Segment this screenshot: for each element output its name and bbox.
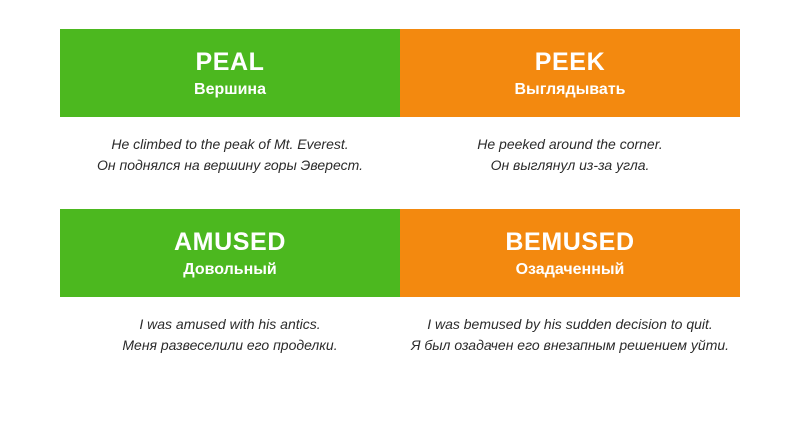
example-block-peek: He peeked around the corner. Он выглянул… bbox=[400, 134, 740, 176]
word-translation: Вершина bbox=[194, 82, 266, 99]
word-pair-group-1: PEAL Вершина PEEK Выглядывать He climbed… bbox=[60, 29, 740, 176]
example-sentence-russian: Я был озадачен его внезапным решением уй… bbox=[410, 335, 730, 356]
word-title: AMUSED bbox=[174, 229, 286, 255]
example-row-1: He climbed to the peak of Mt. Everest. О… bbox=[60, 117, 740, 176]
example-sentence-russian: Он поднялся на вершину горы Эверест. bbox=[70, 155, 390, 176]
word-title: PEAL bbox=[195, 49, 264, 75]
word-banner-amused: AMUSED Довольный bbox=[60, 209, 400, 297]
word-banner-bemused: BEMUSED Озадаченный bbox=[400, 209, 740, 297]
word-pairs-infographic: PEAL Вершина PEEK Выглядывать He climbed… bbox=[0, 0, 800, 438]
example-sentence-russian: Он выглянул из-за угла. bbox=[410, 155, 730, 176]
example-sentence-english: He climbed to the peak of Mt. Everest. bbox=[70, 134, 390, 155]
example-block-bemused: I was bemused by his sudden decision to … bbox=[400, 314, 740, 356]
word-banner-peal: PEAL Вершина bbox=[60, 29, 400, 117]
banner-row-1: PEAL Вершина PEEK Выглядывать bbox=[60, 29, 740, 117]
example-sentence-russian: Меня развеселили его проделки. bbox=[70, 335, 390, 356]
example-block-peal: He climbed to the peak of Mt. Everest. О… bbox=[60, 134, 400, 176]
word-pair-group-2: AMUSED Довольный BEMUSED Озадаченный I w… bbox=[60, 209, 740, 356]
word-translation: Довольный bbox=[183, 262, 277, 279]
example-sentence-english: I was amused with his antics. bbox=[70, 314, 390, 335]
word-translation: Выглядывать bbox=[515, 82, 626, 99]
word-translation: Озадаченный bbox=[516, 262, 625, 279]
example-row-2: I was amused with his antics. Меня разве… bbox=[60, 297, 740, 356]
word-banner-peek: PEEK Выглядывать bbox=[400, 29, 740, 117]
example-block-amused: I was amused with his antics. Меня разве… bbox=[60, 314, 400, 356]
word-title: BEMUSED bbox=[505, 229, 634, 255]
banner-row-2: AMUSED Довольный BEMUSED Озадаченный bbox=[60, 209, 740, 297]
example-sentence-english: I was bemused by his sudden decision to … bbox=[410, 314, 730, 335]
example-sentence-english: He peeked around the corner. bbox=[410, 134, 730, 155]
word-title: PEEK bbox=[535, 49, 605, 75]
